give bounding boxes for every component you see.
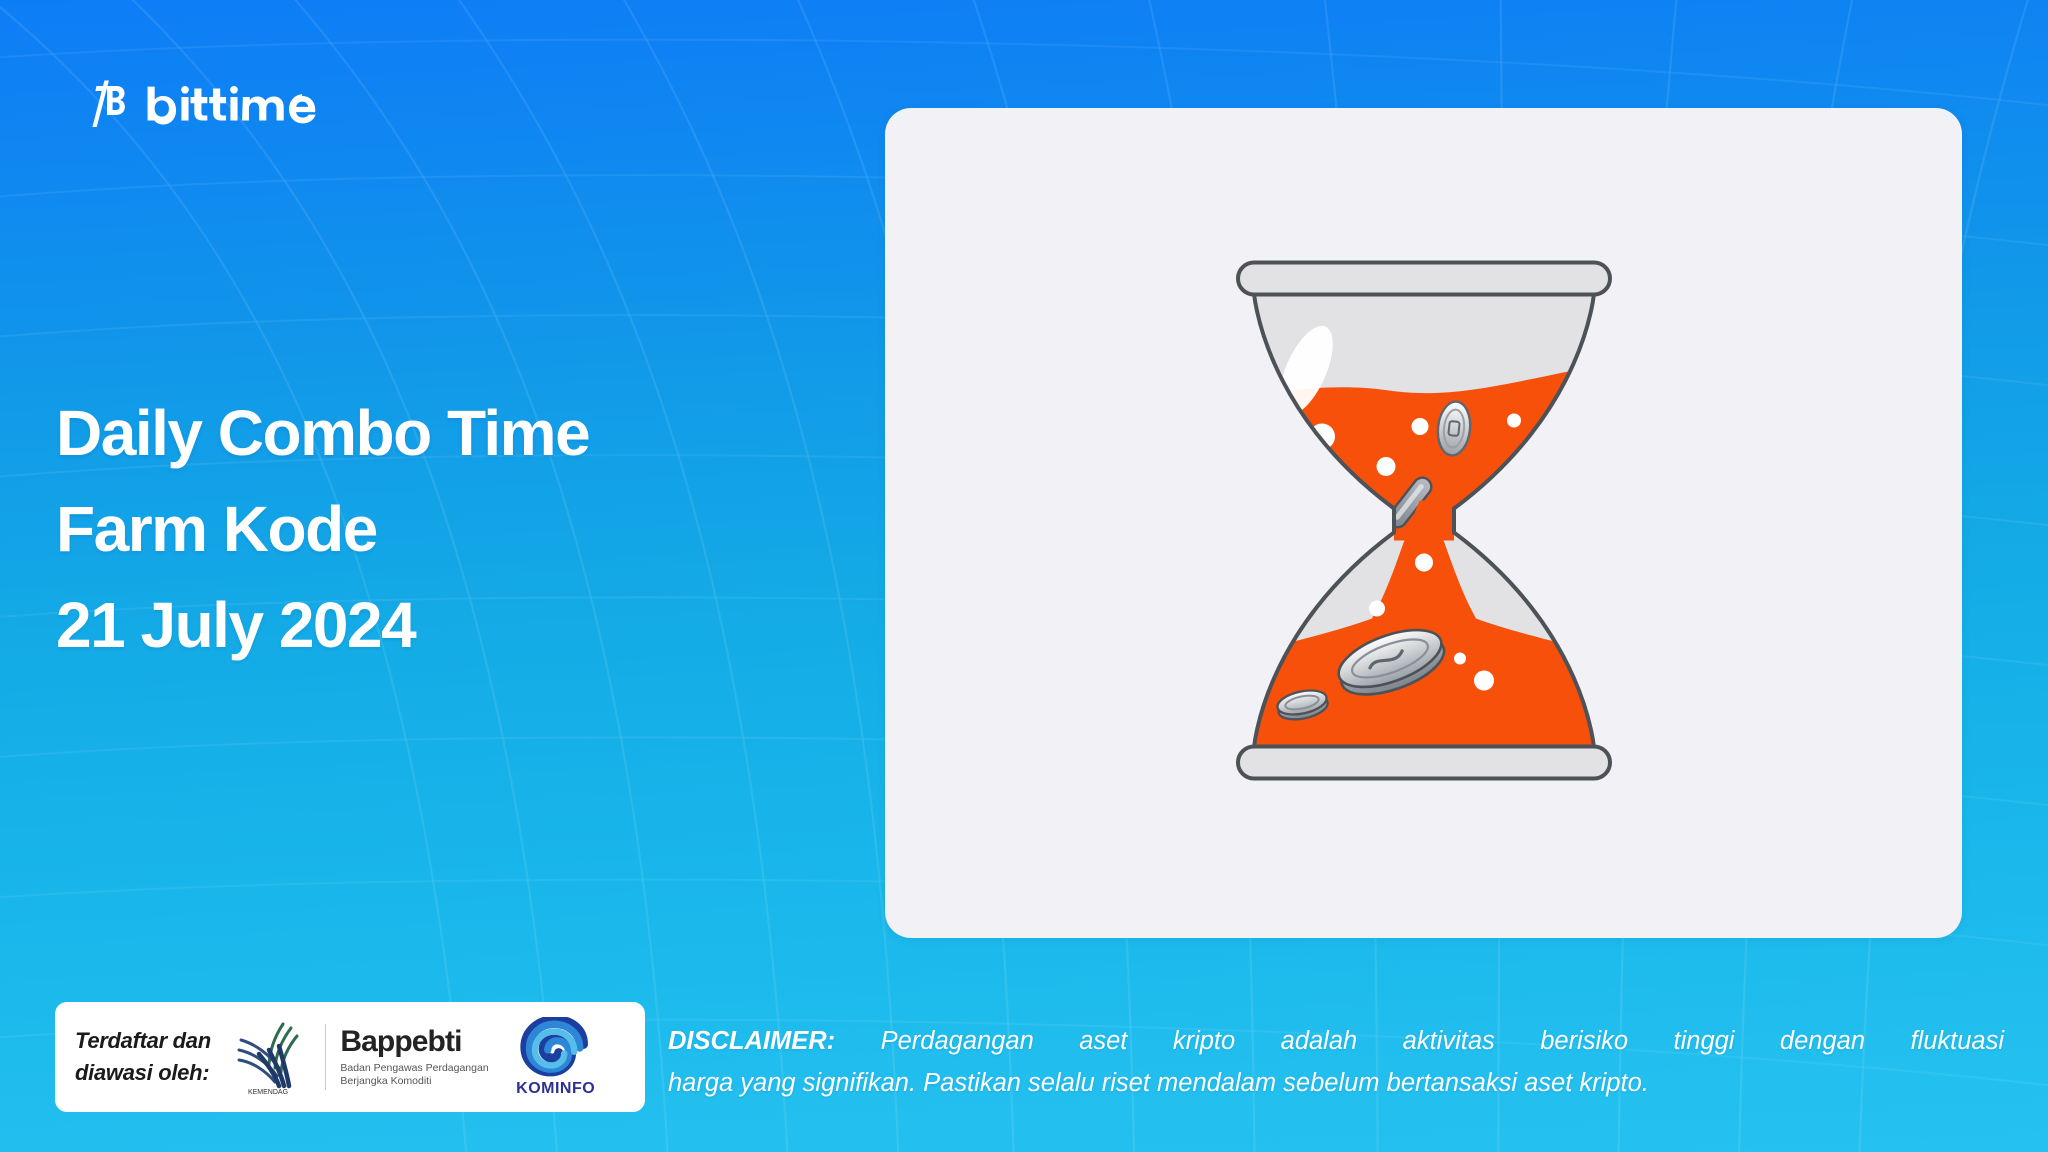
headline-line-2: Farm Kode (56, 481, 589, 577)
svg-text:KEMENDAG: KEMENDAG (248, 1089, 288, 1096)
disclaimer-line-2: harga yang signifikan. Pastikan selalu r… (668, 1062, 2004, 1104)
disclaimer-label: DISCLAIMER: (668, 1027, 835, 1055)
kominfo-logo: KOMINFO (507, 1017, 605, 1098)
page-title: Daily Combo Time Farm Kode 21 July 2024 (56, 385, 589, 673)
kominfo-label: KOMINFO (507, 1080, 605, 1098)
regulator-badge: Terdaftar dan diawasi oleh: (55, 1002, 645, 1112)
kemendag-wheat-sheaf-icon: KEMENDAG (225, 1014, 311, 1100)
badge-divider (325, 1024, 327, 1090)
hourglass-with-coins-illustration (1214, 241, 1634, 806)
bittime-wordmark (144, 83, 340, 126)
bittime-logo[interactable] (90, 80, 340, 128)
headline-line-1: Daily Combo Time (56, 385, 589, 481)
disclaimer-text: DISCLAIMER: Perdagangan aset kripto adal… (668, 1020, 2004, 1104)
supervised-by-label: Terdaftar dan diawasi oleh: (75, 1025, 211, 1089)
bappebti-subtitle: Badan Pengawas Perdagangan Berjangka Kom… (340, 1062, 488, 1088)
illustration-card (885, 108, 1962, 938)
bappebti-logo: Bappebti Badan Pengawas Perdagangan Berj… (340, 1027, 488, 1088)
bittime-b-logo-icon (90, 80, 130, 128)
headline-line-3: 21 July 2024 (56, 577, 589, 673)
disclaimer-line-1-text: Perdagangan aset kripto adalah aktivitas… (835, 1027, 2004, 1055)
promo-banner: Daily Combo Time Farm Kode 21 July 2024 (0, 0, 2048, 1152)
disclaimer-line-1: DISCLAIMER: Perdagangan aset kripto adal… (668, 1020, 2004, 1062)
bappebti-name: Bappebti (340, 1027, 488, 1057)
